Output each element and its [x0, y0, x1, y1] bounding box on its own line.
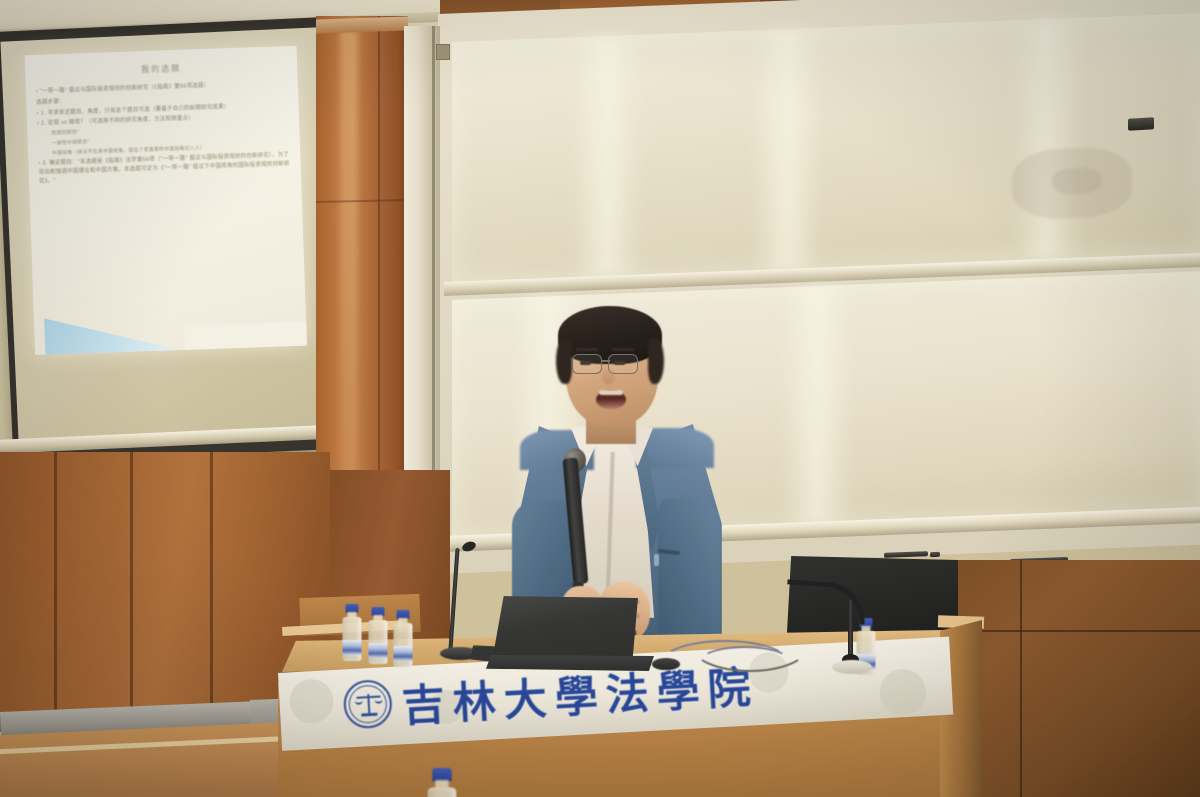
presentation-slide: 我的选题 "一带一路" 倡议与国际投资规则的创新研究（《指南》第56项选题） 选… [25, 46, 307, 355]
panel-seam [130, 452, 133, 732]
scales-pan-right-icon [375, 699, 383, 703]
slide-title: 我的选题 [35, 59, 287, 79]
panel-seam [210, 452, 213, 732]
whiteboard-marker-icon[interactable] [884, 551, 928, 558]
projection-screen-surface: 我的选题 "一带一路" 倡议与国际投资规则的创新研究（《指南》第56项选题） 选… [0, 27, 340, 449]
whiteboard-smudge [1052, 167, 1102, 195]
scales-pan-left-icon [355, 700, 363, 704]
whiteboard-marker-icon[interactable] [930, 552, 940, 557]
wall-bracket [436, 44, 450, 60]
hair-side [648, 338, 664, 384]
eyebrow [612, 348, 634, 351]
eyebrow [576, 348, 598, 351]
eyeglasses-lens-left [572, 354, 602, 374]
gooseneck-microphone-base[interactable] [832, 660, 872, 674]
whiteboard-glare [1012, 18, 1082, 261]
jacket-zip-tab [654, 554, 659, 566]
scales-of-justice-emblem [343, 679, 394, 730]
banner-watermark-dot [288, 678, 334, 724]
slide-bullet-list: "一带一路" 倡议与国际投资规则的创新研究（《指南》第56项选题） 选题步骤： … [36, 79, 291, 186]
scales-base-icon [361, 713, 377, 717]
laptop-base [486, 655, 654, 671]
whiteboard-upper-panel [452, 13, 1200, 282]
laptop-computer[interactable] [492, 596, 638, 664]
bottle-label [343, 640, 362, 655]
whiteboard-glare [752, 28, 822, 271]
bottle-label [369, 643, 388, 658]
whiteboard-glare [782, 285, 852, 526]
bottle-label [394, 646, 413, 661]
whiteboard-glare [572, 35, 642, 278]
hair-side [556, 338, 572, 384]
banner-watermark-dot [879, 668, 927, 716]
whiteboard-eraser-icon[interactable] [1128, 117, 1154, 130]
panel-seam [54, 452, 57, 732]
slide-decor-block [184, 321, 307, 355]
desk-cable [700, 646, 790, 676]
nose [602, 368, 614, 384]
projection-screen: 我的选题 "一带一路" 倡议与国际投资规则的创新研究（《指南》第56项选题） 选… [0, 17, 353, 464]
gooseneck-microphone-stem [848, 600, 853, 662]
lecture-hall-photo: 我的选题 "一带一路" 倡议与国际投资规则的创新研究（《指南》第56项选题） 选… [0, 0, 1200, 797]
slide-decor-wedge [43, 297, 195, 355]
teeth [599, 390, 623, 395]
eyeglasses-bridge [601, 360, 610, 362]
bottle-body [428, 788, 457, 797]
emblem-inner-ring [348, 684, 388, 724]
wood-grid-line [1020, 560, 1022, 797]
